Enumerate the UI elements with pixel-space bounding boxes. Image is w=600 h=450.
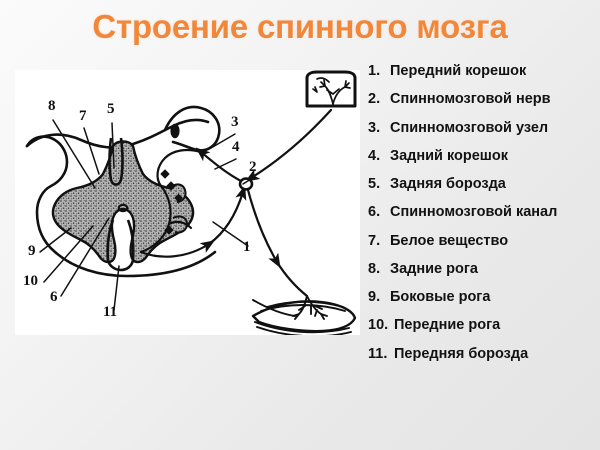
legend-number: 1. — [368, 63, 390, 80]
legend-item-8: 8. Задние рога — [368, 261, 596, 278]
receptor-nerve-endings-inset — [307, 72, 355, 106]
legend-item-7: 7. Белое вещество — [368, 233, 596, 250]
callout-10: 10 — [23, 273, 38, 289]
callout-11: 11 — [103, 304, 117, 320]
slide-root: Строение спинного мозга — [0, 0, 600, 450]
legend-list: 1. Передний корешок 2. Спинномозговой не… — [368, 63, 596, 374]
callout-4: 4 — [232, 139, 240, 155]
callout-8: 8 — [48, 98, 56, 114]
legend-item-9: 9. Боковые рога — [368, 289, 596, 306]
legend-item-4: 4. Задний корешок — [368, 148, 596, 165]
legend-item-5: 5. Задняя борозда — [368, 176, 596, 193]
legend-label: Задний корешок — [390, 148, 596, 165]
dorsal-root-lobes — [165, 107, 219, 150]
legend-label: Передний корешок — [390, 63, 596, 80]
callout-6: 6 — [50, 289, 58, 305]
legend-number: 10. — [368, 317, 394, 334]
page-title: Строение спинного мозга — [0, 8, 600, 46]
legend-number: 9. — [368, 289, 390, 306]
legend-number: 11. — [368, 346, 394, 363]
legend-item-2: 2. Спинномозговой нерв — [368, 91, 596, 108]
legend-number: 2. — [368, 91, 390, 108]
legend-label: Спинномозговой нерв — [390, 91, 596, 108]
spinal-cord-diagram: 1 2 3 4 5 6 7 8 9 10 11 — [15, 70, 360, 335]
legend-label: Боковые рога — [390, 289, 596, 306]
callout-1: 1 — [243, 239, 251, 255]
legend-label: Белое вещество — [390, 233, 596, 250]
legend-item-3: 3. Спинномозговой узел — [368, 120, 596, 137]
legend-item-1: 1. Передний корешок — [368, 63, 596, 80]
legend-label: Спинномозговой канал — [390, 204, 596, 221]
legend-label: Спинномозговой узел — [390, 120, 596, 137]
legend-number: 5. — [368, 176, 390, 193]
callout-7: 7 — [79, 108, 87, 124]
legend-label: Задняя борозда — [390, 176, 596, 193]
callout-3: 3 — [231, 114, 239, 130]
muscle-effector — [253, 296, 355, 335]
reflex-arc-pathways — [141, 110, 331, 296]
callout-9: 9 — [28, 243, 36, 259]
legend-label: Передняя борозда — [394, 346, 596, 363]
legend-item-10: 10. Передние рога — [368, 317, 596, 334]
legend-number: 4. — [368, 148, 390, 165]
legend-number: 8. — [368, 261, 390, 278]
legend-item-11: 11. Передняя борозда — [368, 346, 596, 363]
legend-number: 3. — [368, 120, 390, 137]
legend-number: 6. — [368, 204, 390, 221]
callout-5: 5 — [107, 101, 115, 117]
legend-number: 7. — [368, 233, 390, 250]
diagram-panel: 1 2 3 4 5 6 7 8 9 10 11 — [15, 70, 360, 335]
legend-item-6: 6. Спинномозговой канал — [368, 204, 596, 221]
legend-label: Задние рога — [390, 261, 596, 278]
legend-label: Передние рога — [394, 317, 596, 334]
callout-2: 2 — [249, 159, 257, 175]
